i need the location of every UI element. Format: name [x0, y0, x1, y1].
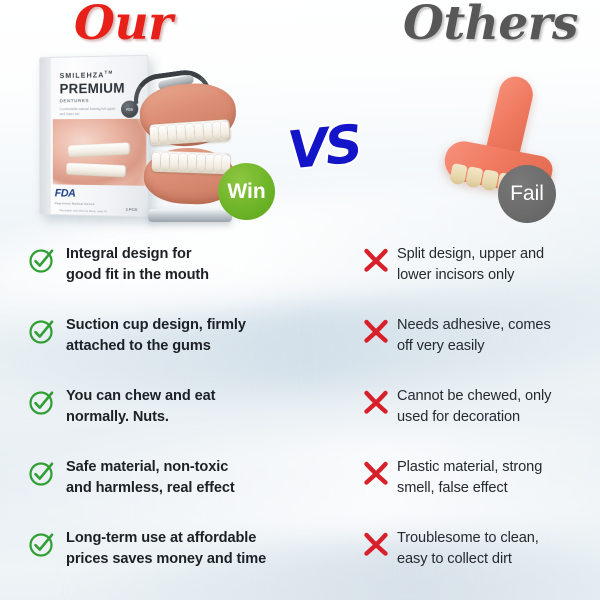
list-item-label: Needs adhesive, comes off very easily — [397, 315, 551, 357]
list-item: Safe material, non-toxic and harmless, r… — [28, 453, 328, 524]
vs-mark: VS — [285, 114, 363, 181]
comparison-columns: Integral design for good fit in the mout… — [0, 240, 600, 600]
package-brand: SMILEHZATM — [60, 70, 114, 80]
package-subtitle: DENTURES — [60, 98, 90, 103]
cross-mark-icon — [361, 245, 391, 275]
check-circle-icon — [28, 530, 56, 558]
comparison-infographic: Our Others SMILEHZATM PREMIUM DENTURES C… — [0, 0, 600, 600]
photo-lower-teeth — [66, 163, 126, 178]
cross-mark-icon — [361, 316, 391, 346]
list-item-label: Long-term use at affordable prices saves… — [66, 528, 266, 570]
check-circle-icon — [28, 459, 56, 487]
list-item-label: Split design, upper and lower incisors o… — [397, 244, 544, 286]
package-brand-text: SMILEHZA — [60, 70, 105, 80]
package-spine — [40, 58, 51, 214]
denture-upper-teeth — [149, 119, 230, 146]
photo-upper-teeth — [68, 142, 130, 157]
list-item: You can chew and eat normally. Nuts. — [28, 382, 328, 453]
list-item-label: You can chew and eat normally. Nuts. — [66, 386, 215, 428]
list-item: Long-term use at affordable prices saves… — [28, 524, 328, 595]
ours-feature-list: Integral design for good fit in the mout… — [28, 240, 328, 595]
list-item: Split design, upper and lower incisors o… — [361, 240, 593, 311]
header-ours: Our — [74, 0, 172, 51]
fda-logo-caption: Registered Medical Device — [55, 201, 95, 206]
cross-mark-icon — [361, 529, 391, 559]
list-item-label: Plastic material, strong smell, false ef… — [397, 457, 542, 499]
list-item: Suction cup design, firmly attached to t… — [28, 311, 328, 382]
check-circle-icon — [28, 388, 56, 416]
list-item: Integral design for good fit in the mout… — [28, 240, 328, 311]
cross-mark-icon — [361, 387, 391, 417]
header-others: Others — [403, 0, 578, 51]
list-item-label: Troublesome to clean, easy to collect di… — [397, 528, 539, 570]
trademark-symbol: TM — [104, 70, 113, 75]
list-item: Plastic material, strong smell, false ef… — [361, 453, 593, 524]
fail-badge: Fail — [498, 165, 556, 223]
list-item: Needs adhesive, comes off very easily — [361, 311, 593, 382]
cross-mark-icon — [361, 458, 391, 488]
list-item-label: Safe material, non-toxic and harmless, r… — [66, 457, 235, 499]
list-item: Cannot be chewed, only used for decorati… — [361, 382, 593, 453]
package-description: Comfortable natural looking full upper a… — [60, 107, 121, 117]
denture-stand — [148, 209, 232, 222]
check-circle-icon — [28, 246, 56, 274]
list-item-label: Cannot be chewed, only used for decorati… — [397, 386, 551, 428]
list-item: Troublesome to clean, easy to collect di… — [361, 524, 593, 595]
win-badge: Win — [218, 163, 275, 220]
package-footer-text: Reusable soft silicone base, easy fit — [60, 208, 113, 213]
fda-logo: FDA — [55, 187, 76, 199]
package-title: PREMIUM — [60, 80, 125, 96]
check-circle-icon — [28, 317, 56, 345]
denture-lower-teeth — [152, 151, 231, 175]
list-item-label: Suction cup design, firmly attached to t… — [66, 315, 246, 357]
others-feature-list: Split design, upper and lower incisors o… — [361, 240, 593, 595]
list-item-label: Integral design for good fit in the mout… — [66, 244, 209, 286]
